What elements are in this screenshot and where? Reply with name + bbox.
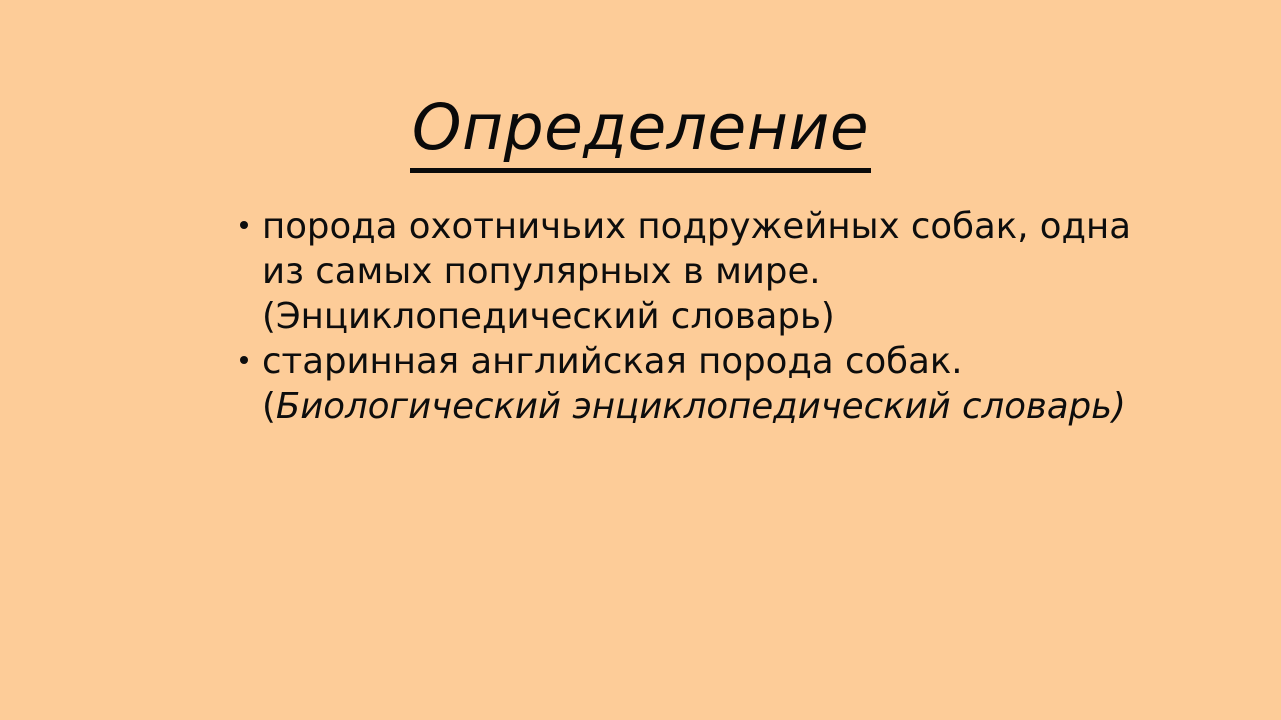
bullet-source: (Биологический энциклопедический словарь… bbox=[262, 384, 1176, 429]
title-block: Определение bbox=[0, 52, 1281, 215]
bullet-dot-icon bbox=[240, 356, 248, 364]
list-item: порода охотничьих подружейных собак, одн… bbox=[236, 204, 1176, 339]
bullet-line: из самых популярных в мире. bbox=[262, 249, 1176, 294]
content-body: порода охотничьих подружейных собак, одн… bbox=[236, 204, 1176, 429]
bullet-source: (Энциклопедический словарь) bbox=[262, 294, 1176, 339]
bullet-text: старинная английская порода собак. (Биол… bbox=[262, 339, 1176, 429]
list-item: старинная английская порода собак. (Биол… bbox=[236, 339, 1176, 429]
slide-canvas: Определение порода охотничьих подружейны… bbox=[0, 0, 1281, 720]
bullet-text: порода охотничьих подружейных собак, одн… bbox=[262, 204, 1176, 339]
bullet-dot-icon bbox=[240, 221, 248, 229]
source-open-paren: ( bbox=[262, 386, 276, 427]
bullet-list: порода охотничьих подружейных собак, одн… bbox=[236, 204, 1176, 429]
page-title: Определение bbox=[410, 94, 871, 173]
source-title: Биологический энциклопедический словарь) bbox=[276, 386, 1126, 427]
bullet-line: старинная английская порода собак. bbox=[262, 339, 1176, 384]
bullet-line: порода охотничьих подружейных собак, одн… bbox=[262, 204, 1176, 249]
